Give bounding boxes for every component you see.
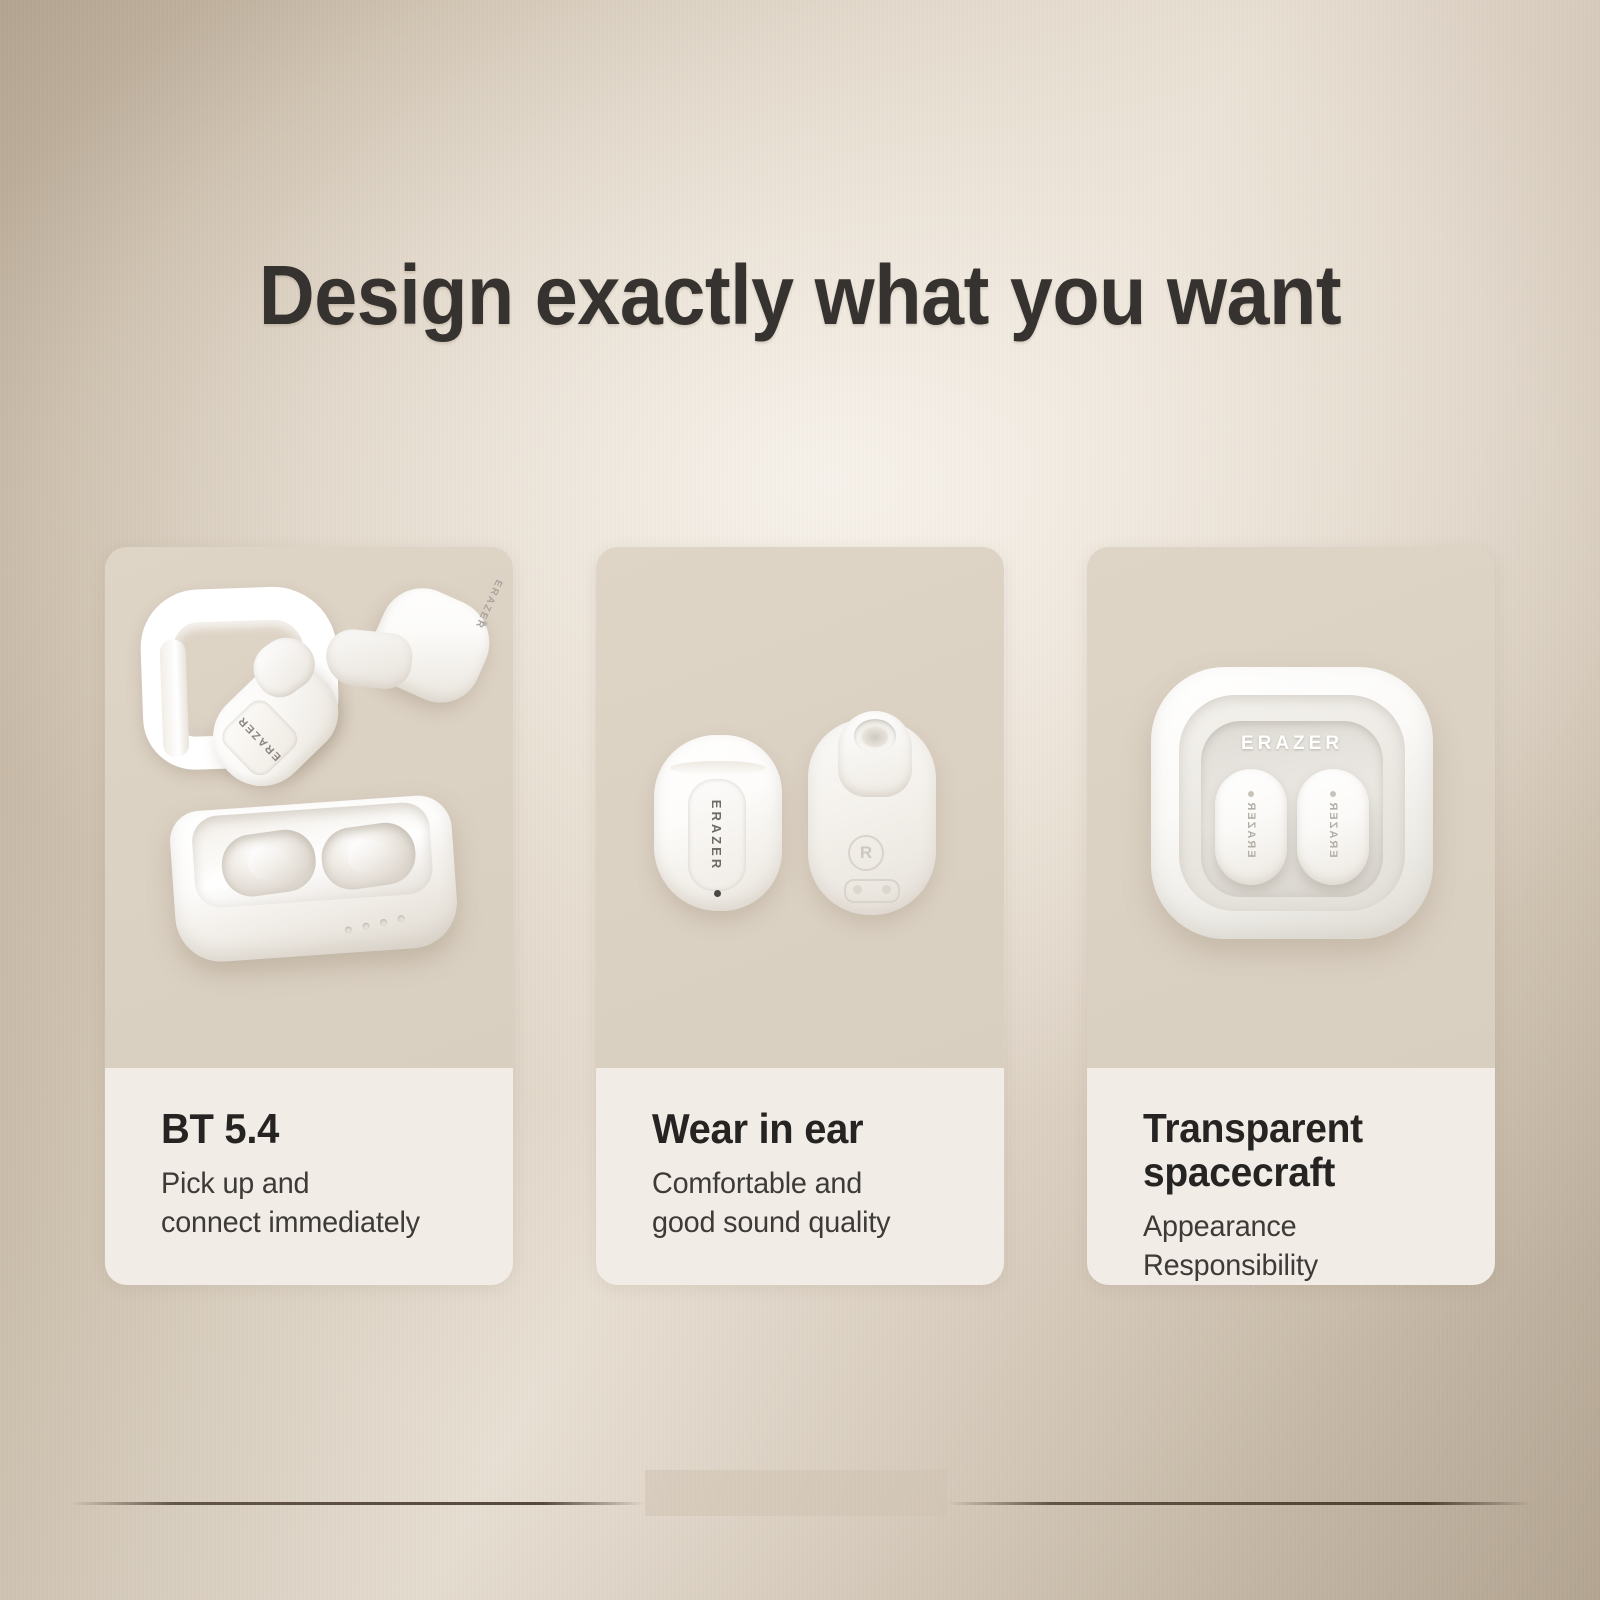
card-subtitle-line1: Appearance	[1143, 1208, 1481, 1246]
card-text-transparent-spacecraft: Transparent spacecraft Appearance Respon…	[1087, 1068, 1495, 1285]
transparent-window: ERAZER ERAZER ERAZER	[1201, 721, 1383, 897]
divider-line-left	[70, 1502, 645, 1505]
brand-plate: ERAZER	[217, 695, 303, 781]
card-title: Transparent spacecraft	[1143, 1106, 1477, 1195]
silicone-eartip	[838, 711, 912, 797]
brand-label: ERAZER	[472, 578, 504, 631]
earbud-stem	[323, 627, 414, 692]
earbud-cavity-left	[218, 826, 320, 900]
card-subtitle: Comfortable and good sound quality	[652, 1165, 990, 1242]
product-feature-poster: Design exactly what you want ERAZER	[0, 0, 1600, 1600]
card-subtitle-line1: Pick up and	[161, 1165, 499, 1203]
card-photo-transparent-case: ERAZER ERAZER ERAZER	[1087, 547, 1495, 1068]
rule-center-plate	[645, 1470, 947, 1516]
card-title: BT 5.4	[161, 1106, 495, 1151]
brand-label: ERAZER	[1327, 801, 1339, 858]
brand-label: ERAZER	[236, 713, 284, 763]
card-photo-bt54: ERAZER ERAZER	[105, 547, 513, 1068]
divider-line-right	[947, 1502, 1532, 1505]
card-photo-wear-in-ear: ERAZER R	[596, 547, 1004, 1068]
case-inner-shell: ERAZER ERAZER ERAZER	[1179, 695, 1405, 911]
microphone-dot	[714, 890, 721, 897]
closed-charging-case: ERAZER ERAZER ERAZER	[1151, 667, 1433, 939]
card-subtitle-line2: good sound quality	[652, 1204, 990, 1242]
earbud-cavity-right	[318, 819, 420, 893]
card-title-line2: spacecraft	[1143, 1150, 1477, 1194]
status-led-dot	[1330, 791, 1336, 797]
feature-card-bt54[interactable]: ERAZER ERAZER	[105, 547, 513, 1285]
card-subtitle-line1: Comfortable and	[652, 1165, 990, 1203]
feature-card-transparent-spacecraft[interactable]: ERAZER ERAZER ERAZER	[1087, 547, 1495, 1285]
earbud-back-view: R	[808, 719, 936, 915]
card-text-bt54: BT 5.4 Pick up and connect immediately	[105, 1068, 513, 1285]
brand-label: ERAZER	[710, 799, 725, 870]
brand-label: ERAZER	[1201, 733, 1383, 755]
status-led-dot	[1248, 791, 1254, 797]
card-subtitle-line2: Responsibility	[1143, 1247, 1481, 1285]
brand-label: ERAZER	[1245, 801, 1257, 858]
led-dot	[397, 915, 405, 923]
card-text-wear-in-ear: Wear in ear Comfortable and good sound q…	[596, 1068, 1004, 1285]
card-title: Wear in ear	[652, 1106, 986, 1151]
charging-contacts	[844, 879, 900, 903]
card-subtitle: Appearance Responsibility	[1143, 1208, 1481, 1285]
earbud-inside-right: ERAZER	[1297, 769, 1369, 885]
led-dot	[379, 918, 387, 926]
charging-case-tray	[190, 801, 434, 909]
battery-led-indicators	[344, 915, 405, 935]
page-title: Design exactly what you want	[64, 253, 1536, 337]
led-dot	[344, 926, 352, 934]
card-subtitle: Pick up and connect immediately	[161, 1165, 499, 1242]
charging-case-body	[168, 793, 460, 964]
brand-plate: ERAZER	[688, 779, 746, 891]
feature-card-wear-in-ear[interactable]: ERAZER R Wear in ear Comfortable and goo…	[596, 547, 1004, 1285]
open-charging-case	[165, 771, 465, 961]
channel-marking-right: R	[848, 835, 884, 871]
card-subtitle-line2: connect immediately	[161, 1204, 499, 1242]
earbud-inside-left: ERAZER	[1215, 769, 1287, 885]
earbud-seam	[670, 761, 766, 775]
feature-card-list: ERAZER ERAZER	[105, 547, 1495, 1285]
earbud-front-view: ERAZER	[654, 735, 782, 911]
led-dot	[362, 922, 370, 930]
card-title-line1: Transparent	[1143, 1106, 1477, 1150]
